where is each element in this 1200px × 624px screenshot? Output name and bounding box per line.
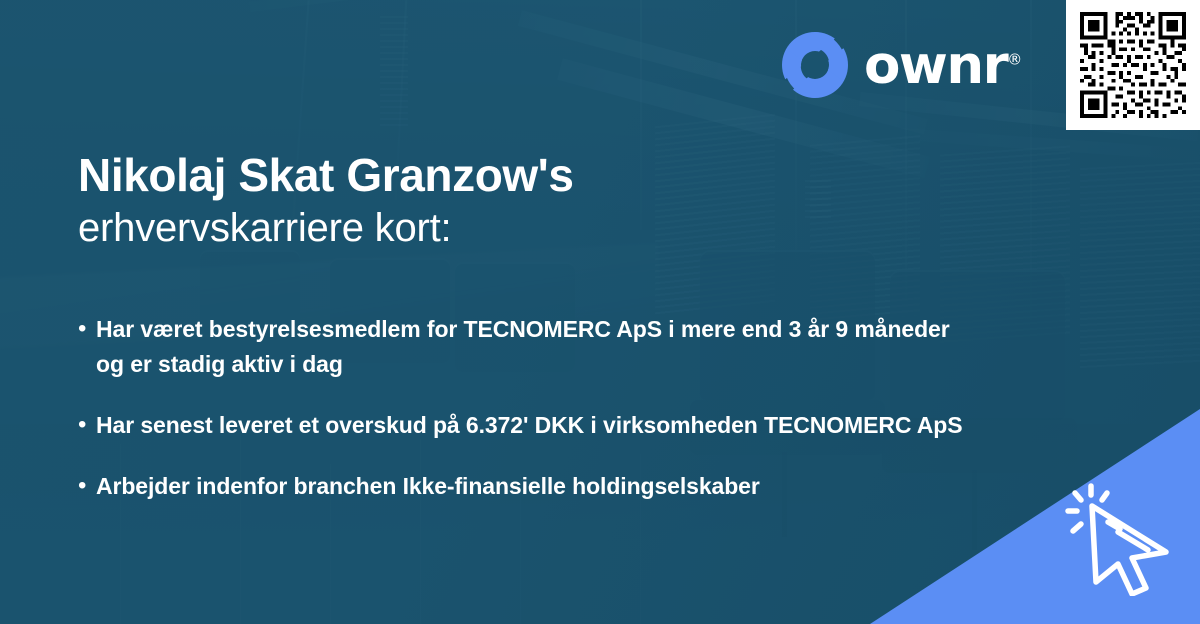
list-item-text: Har været bestyrelsesmedlem for TECNOMER… — [96, 312, 978, 382]
list-item-text: Har senest leveret et overskud på 6.372'… — [96, 408, 963, 443]
ownr-wordmark-text: ownr — [864, 35, 1007, 96]
page-title-line-1: Nikolaj Skat Granzow's — [78, 148, 898, 202]
ownr-circular-swirl-logo-icon — [780, 30, 850, 100]
bullet-dot-icon: • — [78, 312, 96, 346]
business-card-graphic: ownr® Nikolaj Skat Granzow's erhvervskar… — [0, 0, 1200, 624]
click-cursor-icon — [1062, 478, 1182, 596]
list-item-text: Arbejder indenfor branchen Ikke-finansie… — [96, 469, 760, 504]
list-item: • Har senest leveret et overskud på 6.37… — [78, 408, 978, 443]
qr-code[interactable] — [1066, 0, 1200, 130]
ownr-wordmark: ownr® — [864, 39, 1022, 92]
page-title-line-2: erhvervskarriere kort: — [78, 202, 898, 254]
page-title: Nikolaj Skat Granzow's erhvervskarriere … — [78, 148, 898, 254]
ownr-logo[interactable]: ownr® — [780, 30, 1022, 100]
list-item: • Har været bestyrelsesmedlem for TECNOM… — [78, 312, 978, 382]
list-item: • Arbejder indenfor branchen Ikke-finans… — [78, 469, 978, 504]
bullet-dot-icon: • — [78, 408, 96, 442]
registered-trademark-symbol: ® — [1007, 50, 1022, 68]
bullet-dot-icon: • — [78, 469, 96, 503]
career-highlights-list: • Har været bestyrelsesmedlem for TECNOM… — [78, 312, 978, 530]
qr-code-image — [1076, 8, 1190, 122]
